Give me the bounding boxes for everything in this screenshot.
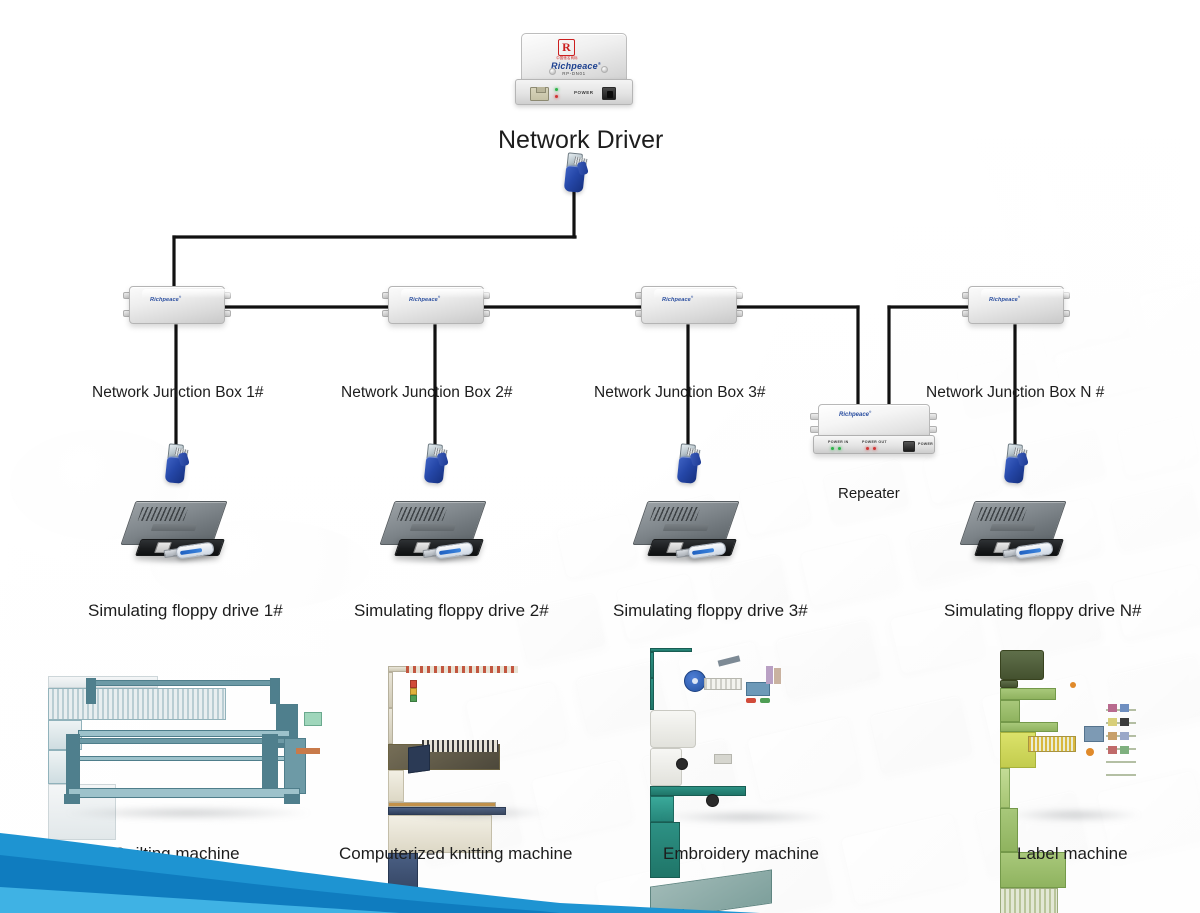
vent-slots-icon: [977, 507, 1028, 521]
led-red-icon: [555, 95, 558, 98]
rj45-connector-drive-2: [422, 443, 448, 487]
repeater-brand-text: Richpeace®: [839, 410, 871, 418]
repeater-port-label-2: POWER OUT: [862, 440, 887, 444]
bottom-blue-ribbon: [0, 803, 760, 913]
junction-box-n[interactable]: Richpeace®: [958, 284, 1074, 328]
floppy-drive-3-label: Simulating floppy drive 3#: [613, 601, 808, 621]
repeater-port-label-3: POWER: [918, 442, 933, 446]
knitting-machine-image: [388, 666, 558, 816]
driver-power-label: POWER: [574, 90, 594, 95]
junction-box-body: Richpeace®: [641, 286, 737, 324]
floppy-drive-2-label: Simulating floppy drive 2#: [354, 601, 549, 621]
quilting-machine-image: [48, 676, 328, 816]
driver-top-face: R 中国驰名商标 Richpeace® RP-DN01: [521, 33, 627, 83]
network-driver-device[interactable]: R 中国驰名商标 Richpeace® RP-DN01 POWER: [515, 33, 633, 105]
junction-box-n-label: Network Junction Box N #: [926, 384, 1104, 402]
floppy-drive-3[interactable]: [630, 497, 748, 571]
driver-front-panel: POWER: [515, 79, 633, 105]
label-machine-image: [1000, 650, 1150, 818]
rj45-connector-drive-3: [675, 443, 701, 487]
network-driver-label: Network Driver: [498, 126, 663, 155]
drive-sticker: [410, 524, 456, 531]
floppy-drive-1[interactable]: [118, 497, 236, 571]
rj45-port-icon[interactable]: [530, 87, 549, 101]
floppy-drive-1-label: Simulating floppy drive 1#: [88, 601, 283, 621]
junction-box-body: Richpeace®: [388, 286, 484, 324]
machine-shadow: [1009, 808, 1141, 822]
junction-box-2[interactable]: Richpeace®: [378, 284, 494, 328]
drive-sticker: [990, 524, 1036, 531]
rj45-boot-icon: [677, 456, 699, 484]
junction-box-3-label: Network Junction Box 3#: [594, 384, 765, 402]
rj45-connector-drive-n: [1002, 443, 1028, 487]
rj45-boot-icon: [564, 165, 586, 193]
junction-box-body: Richpeace®: [129, 286, 225, 324]
repeater-port-label-1: POWER IN: [828, 440, 849, 444]
floppy-drive-n[interactable]: [957, 497, 1075, 571]
vent-slots-icon: [650, 507, 701, 521]
vent-slots-icon: [138, 507, 189, 521]
repeater-top-face: Richpeace®: [818, 404, 930, 438]
label-machine-label: Label machine: [1017, 844, 1128, 864]
junction-box-brand-text: Richpeace®: [150, 295, 181, 303]
floppy-drive-2[interactable]: [377, 497, 495, 571]
junction-box-brand-text: Richpeace®: [989, 295, 1020, 303]
diagram-canvas: R 中国驰名商标 Richpeace® RP-DN01 POWER Networ…: [0, 0, 1200, 913]
drive-sticker: [151, 524, 197, 531]
junction-box-brand-text: Richpeace®: [409, 295, 440, 303]
repeater-front-panel: POWER IN POWER OUT POWER: [813, 435, 935, 454]
embroidery-machine-image: [650, 648, 840, 820]
floppy-drive-n-label: Simulating floppy drive N#: [944, 601, 1141, 621]
junction-box-1-label: Network Junction Box 1#: [92, 384, 263, 402]
power-jack-icon[interactable]: [602, 87, 616, 100]
junction-box-1[interactable]: Richpeace®: [119, 284, 235, 328]
drive-sticker: [663, 524, 709, 531]
rj45-connector-driver: [562, 152, 588, 196]
junction-box-brand-text: Richpeace®: [662, 295, 693, 303]
rj45-connector-drive-1: [163, 443, 189, 487]
led-green-icon: [838, 447, 841, 450]
repeater-device[interactable]: Richpeace® POWER IN POWER OUT POWER: [809, 404, 939, 460]
repeater-label: Repeater: [838, 485, 900, 502]
junction-box-3[interactable]: Richpeace®: [631, 284, 747, 328]
rj45-boot-icon: [424, 456, 446, 484]
power-jack-icon[interactable]: [903, 441, 915, 452]
richpeace-logo-icon: R: [558, 39, 575, 56]
led-red-icon: [873, 447, 876, 450]
junction-box-body: Richpeace®: [968, 286, 1064, 324]
driver-model-text: RP-DN01: [522, 71, 626, 76]
led-green-icon: [555, 88, 558, 91]
rj45-boot-icon: [165, 456, 187, 484]
vent-slots-icon: [397, 507, 448, 521]
rj45-boot-icon: [1004, 456, 1026, 484]
junction-box-2-label: Network Junction Box 2#: [341, 384, 512, 402]
led-green-icon: [831, 447, 834, 450]
logo-subtext: 中国驰名商标: [555, 55, 579, 60]
led-red-icon: [866, 447, 869, 450]
